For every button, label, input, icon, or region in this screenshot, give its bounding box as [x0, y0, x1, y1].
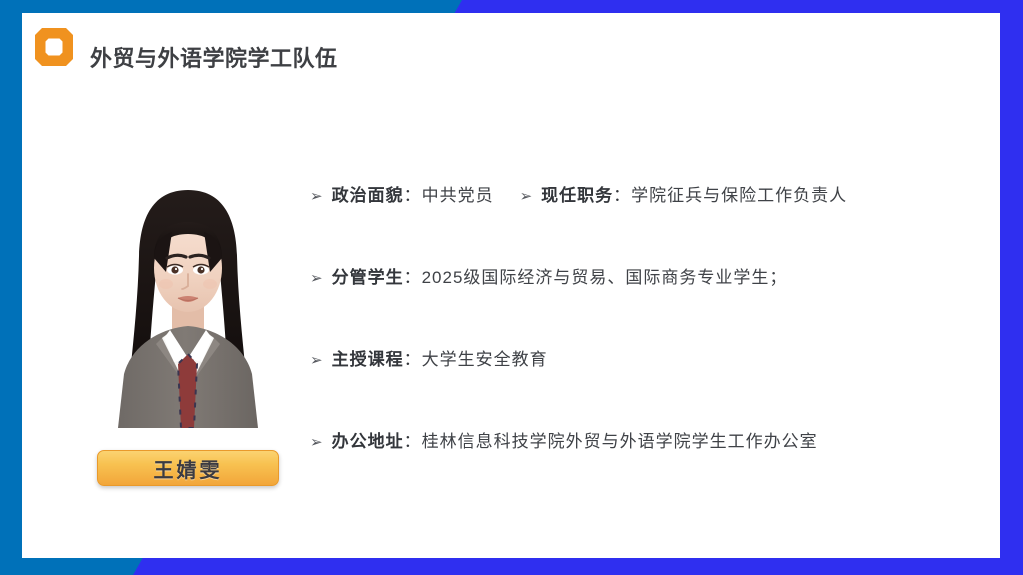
detail-item-managed-students: ➢ 分管学生 ： 2025级国际经济与贸易、国际商务专业学生； — [310, 263, 787, 288]
detail-value: 桂林信息科技学院外贸与外语学院学生工作办公室 — [422, 427, 818, 452]
arrow-bullet-icon: ➢ — [310, 189, 323, 204]
card-header: 外贸与外语学院学工队伍 — [22, 13, 1000, 91]
detail-value: 2025级国际经济与贸易、国际商务专业学生； — [422, 263, 788, 288]
detail-separator: ： — [613, 181, 630, 206]
detail-separator: ： — [404, 345, 421, 370]
detail-row: ➢ 分管学生 ： 2025级国际经济与贸易、国际商务专业学生； — [310, 263, 970, 345]
detail-item-current-position: ➢ 现任职务 ： 学院征兵与保险工作负责人 — [520, 181, 848, 206]
profile-photo-block: 王婧雯 — [82, 176, 292, 486]
detail-row: ➢ 政治面貌 ： 中共党员 ➢ 现任职务 ： 学院征兵与保险工作负责人 — [310, 181, 970, 263]
detail-item-office-address: ➢ 办公地址 ： 桂林信息科技学院外贸与外语学院学生工作办公室 — [310, 427, 818, 452]
detail-value: 中共党员 — [422, 181, 494, 206]
detail-label: 现任职务 — [541, 181, 613, 206]
portrait-photo — [104, 176, 272, 428]
detail-separator: ： — [404, 427, 421, 452]
content-card: 外贸与外语学院学工队伍 — [22, 13, 1000, 558]
arrow-bullet-icon: ➢ — [310, 353, 323, 368]
detail-list: ➢ 政治面貌 ： 中共党员 ➢ 现任职务 ： 学院征兵与保险工作负责人 ➢ 分管… — [310, 181, 970, 509]
detail-item-political-status: ➢ 政治面貌 ： 中共党员 — [310, 181, 494, 206]
name-badge-label: 王婧雯 — [154, 454, 223, 483]
arrow-bullet-icon: ➢ — [310, 271, 323, 286]
detail-separator: ： — [404, 181, 421, 206]
detail-label: 政治面貌 — [332, 181, 404, 206]
arrow-bullet-icon: ➢ — [310, 435, 323, 450]
octagon-brand-icon — [33, 26, 75, 68]
detail-item-taught-course: ➢ 主授课程 ： 大学生安全教育 — [310, 345, 548, 370]
slide-canvas: 外贸与外语学院学工队伍 — [0, 0, 1023, 575]
name-badge: 王婧雯 — [97, 450, 279, 486]
detail-separator: ： — [404, 263, 421, 288]
detail-value: 学院征兵与保险工作负责人 — [631, 181, 847, 206]
arrow-bullet-icon: ➢ — [520, 189, 533, 204]
detail-value: 大学生安全教育 — [422, 345, 548, 370]
detail-row: ➢ 主授课程 ： 大学生安全教育 — [310, 345, 970, 427]
detail-label: 主授课程 — [332, 345, 404, 370]
detail-row: ➢ 办公地址 ： 桂林信息科技学院外贸与外语学院学生工作办公室 — [310, 427, 970, 509]
detail-label: 办公地址 — [332, 427, 404, 452]
page-title: 外贸与外语学院学工队伍 — [90, 41, 338, 73]
detail-label: 分管学生 — [332, 263, 404, 288]
